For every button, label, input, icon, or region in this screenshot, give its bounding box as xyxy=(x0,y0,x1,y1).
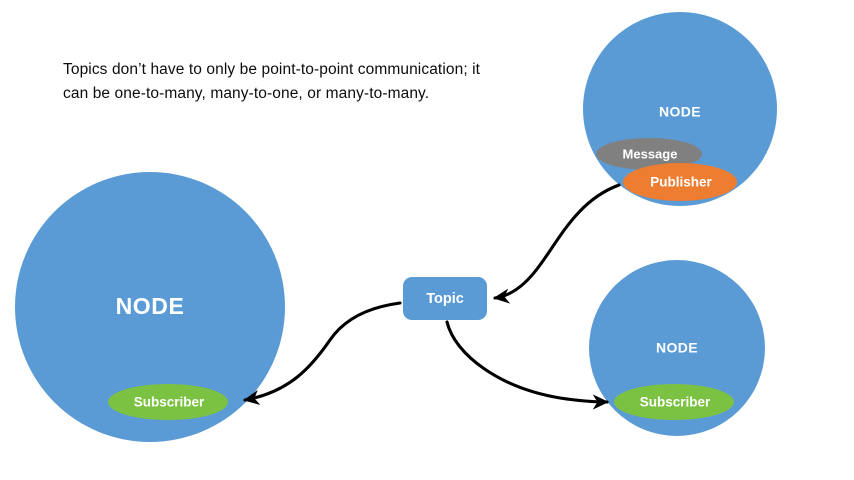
message-label: Message xyxy=(623,146,678,161)
node-left-label: NODE xyxy=(116,293,185,319)
pubsub-topic-diagram: NODE NODE NODE Message Publisher xyxy=(0,0,854,480)
node-bottom-right-label: NODE xyxy=(656,340,698,356)
subscriber-pill-left[interactable]: Subscriber xyxy=(108,384,228,420)
topic-box[interactable]: Topic xyxy=(403,277,487,320)
topic-label: Topic xyxy=(426,291,464,307)
subscriber-bottom-right-label: Subscriber xyxy=(640,395,711,410)
edge-topic-to-subscriber-right xyxy=(447,322,607,402)
node-top-right-label: NODE xyxy=(659,104,701,120)
diagram-canvas: Topics don’t have to only be point-to-po… xyxy=(0,0,854,480)
subscriber-pill-bottom-right[interactable]: Subscriber xyxy=(614,384,734,420)
publisher-pill[interactable]: Publisher xyxy=(623,163,737,201)
subscriber-left-label: Subscriber xyxy=(134,395,205,410)
publisher-label: Publisher xyxy=(650,175,712,190)
edge-publisher-to-topic xyxy=(495,185,619,298)
